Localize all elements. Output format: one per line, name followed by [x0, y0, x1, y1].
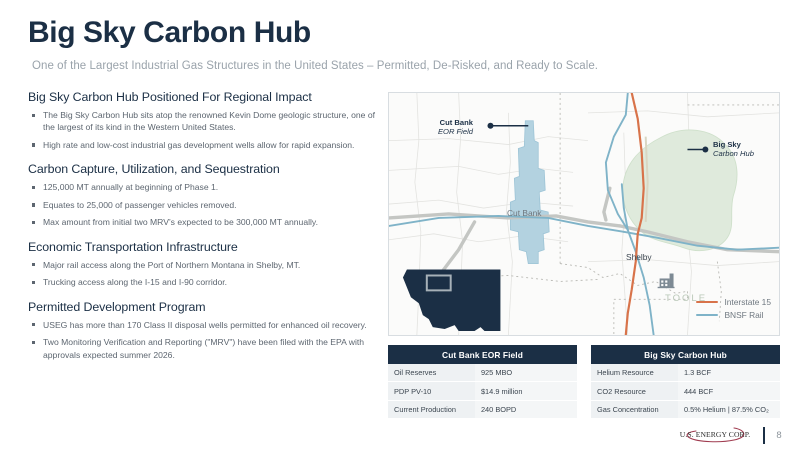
legend-label: Interstate 15: [724, 297, 771, 307]
table-big-sky-carbon-hub: Big Sky Carbon Hub Helium Resource 1.3 B…: [591, 345, 780, 418]
slide: Big Sky Carbon Hub One of the Largest In…: [0, 0, 800, 455]
company-logo: U.S. ENERGY CORP.: [676, 425, 754, 445]
table-cell-value: 925 MBO: [475, 364, 577, 382]
bullet-list: USEG has more than 170 Class II disposal…: [28, 319, 376, 361]
bullet-item: Max amount from initial two MRV’s expect…: [28, 216, 376, 228]
slide-footer: U.S. ENERGY CORP. 8: [676, 425, 784, 445]
table-cell-key: Helium Resource: [591, 364, 678, 382]
place-label-cut-bank: Cut Bank: [507, 208, 541, 219]
table-header: Big Sky Carbon Hub: [591, 345, 780, 364]
bullet-item: 125,000 MT annually at beginning of Phas…: [28, 181, 376, 193]
table-row: Gas Concentration 0.5% Helium | 87.5% CO…: [591, 400, 780, 418]
legend-label: BNSF Rail: [724, 310, 763, 320]
section-heading: Economic Transportation Infrastructure: [28, 240, 376, 254]
page-subtitle: One of the Largest Industrial Gas Struct…: [32, 60, 598, 72]
bullet-list: 125,000 MT annually at beginning of Phas…: [28, 181, 376, 228]
table-row: PDP PV-10 $14.9 million: [388, 382, 577, 400]
table-cell-value: 0.5% Helium | 87.5% CO₂: [678, 400, 780, 418]
table-cut-bank-eor-field: Cut Bank EOR Field Oil Reserves 925 MBO …: [388, 345, 577, 418]
bullet-list: Major rail access along the Port of Nort…: [28, 259, 376, 289]
place-label-shelby: Shelby: [626, 252, 652, 263]
table-cell-value: $14.9 million: [475, 382, 577, 400]
table-header: Cut Bank EOR Field: [388, 345, 577, 364]
table-cell-key: CO2 Resource: [591, 382, 678, 400]
section-regional-impact: Big Sky Carbon Hub Positioned For Region…: [28, 90, 376, 151]
map-legend: Interstate 15 BNSF Rail: [696, 297, 771, 323]
callout-big-sky-title: Big Sky: [713, 140, 754, 149]
section-ccus: Carbon Capture, Utilization, and Sequest…: [28, 162, 376, 228]
section-heading: Permitted Development Program: [28, 300, 376, 314]
section-heading: Big Sky Carbon Hub Positioned For Region…: [28, 90, 376, 104]
rail-line-swatch-icon: [696, 314, 718, 317]
bullet-item: High rate and low-cost industrial gas de…: [28, 139, 376, 151]
table-cell-key: Current Production: [388, 400, 475, 418]
bullet-item: Two Monitoring Verification and Reportin…: [28, 336, 376, 361]
bullet-item: Equates to 25,000 of passenger vehicles …: [28, 199, 376, 211]
table-row: CO2 Resource 444 BCF: [591, 382, 780, 400]
bullet-item: Major rail access along the Port of Nort…: [28, 259, 376, 271]
section-transportation: Economic Transportation Infrastructure M…: [28, 240, 376, 289]
bullet-list: The Big Sky Carbon Hub sits atop the ren…: [28, 109, 376, 151]
table-row: Current Production 240 BOPD: [388, 400, 577, 418]
table-cell-value: 444 BCF: [678, 382, 780, 400]
data-tables: Cut Bank EOR Field Oil Reserves 925 MBO …: [388, 345, 780, 418]
bullet-item: USEG has more than 170 Class II disposal…: [28, 319, 376, 331]
section-permitted-development: Permitted Development Program USEG has m…: [28, 300, 376, 361]
table-cell-value: 240 BOPD: [475, 400, 577, 418]
page-title: Big Sky Carbon Hub: [28, 16, 311, 50]
table-row: Helium Resource 1.3 BCF: [591, 364, 780, 382]
content-left-column: Big Sky Carbon Hub Positioned For Region…: [28, 90, 376, 372]
table-cell-key: PDP PV-10: [388, 382, 475, 400]
bullet-item: The Big Sky Carbon Hub sits atop the ren…: [28, 109, 376, 134]
legend-item-rail: BNSF Rail: [696, 310, 771, 320]
callout-big-sky-subtitle: Carbon Hub: [713, 149, 754, 158]
table-row: Oil Reserves 925 MBO: [388, 364, 577, 382]
section-heading: Carbon Capture, Utilization, and Sequest…: [28, 162, 376, 176]
table-cell-value: 1.3 BCF: [678, 364, 780, 382]
footer-divider: [763, 427, 765, 444]
regional-map: Cut Bank EOR Field Big Sky Carbon Hub Cu…: [388, 92, 780, 336]
page-number: 8: [774, 430, 784, 441]
table-cell-key: Oil Reserves: [388, 364, 475, 382]
bullet-item: Trucking access along the I-15 and I-90 …: [28, 276, 376, 288]
callout-cut-bank-subtitle: EOR Field: [405, 127, 473, 136]
legend-item-interstate: Interstate 15: [696, 297, 771, 307]
table-cell-key: Gas Concentration: [591, 400, 678, 418]
callout-cut-bank-title: Cut Bank: [405, 118, 473, 127]
company-name: U.S. ENERGY CORP.: [676, 430, 754, 439]
callout-cut-bank: Cut Bank EOR Field: [405, 118, 473, 137]
interstate-line-swatch-icon: [696, 301, 718, 304]
callout-big-sky: Big Sky Carbon Hub: [713, 140, 754, 159]
